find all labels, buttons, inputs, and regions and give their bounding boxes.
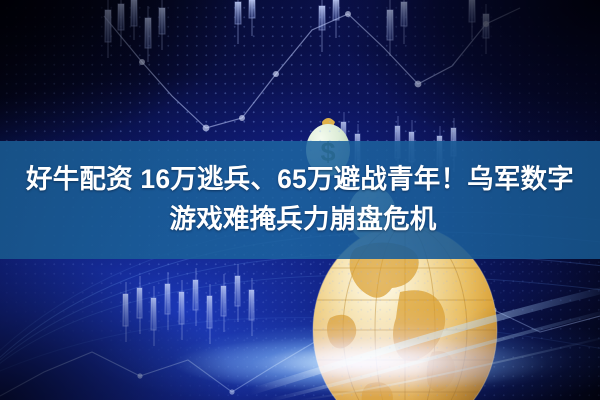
news-banner-image: $	[0, 0, 600, 400]
headline-line-2: 游戏难掩兵力崩盘危机	[164, 201, 437, 239]
headline-text-block: 好牛配资 16万逃兵、65万避战青年！乌军数字 游戏难掩兵力崩盘危机	[0, 141, 600, 259]
headline-line-1: 好牛配资 16万逃兵、65万避战青年！乌军数字	[26, 161, 574, 199]
